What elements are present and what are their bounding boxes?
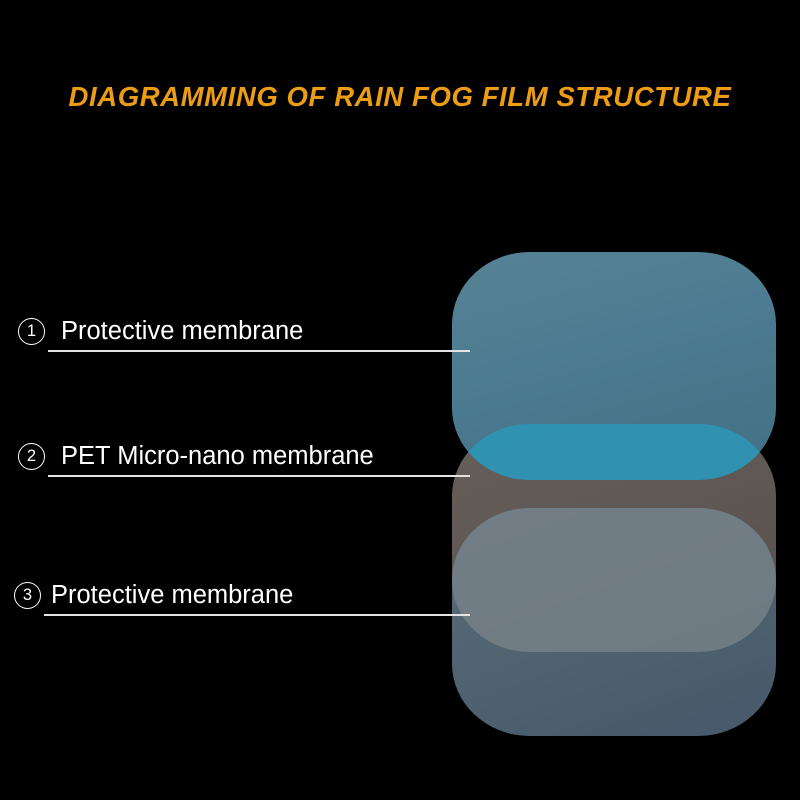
film-layer-3 <box>452 508 776 736</box>
callout-3-row: 3 Protective membrane <box>14 580 293 610</box>
callout-1-row: 1 Protective membrane <box>18 316 303 346</box>
callout-1-number-badge: 1 <box>18 318 45 345</box>
callout-2-leader-line <box>48 475 470 477</box>
callout-1: 1 Protective membrane <box>18 316 303 346</box>
diagram-canvas: DIAGRAMMING OF RAIN FOG FILM STRUCTURE 1… <box>0 0 800 800</box>
callout-3-number-badge: 3 <box>14 582 41 609</box>
film-layer-2 <box>452 424 776 652</box>
callout-2-label: PET Micro-nano membrane <box>61 441 374 471</box>
layer-overlap-2-3-shape <box>452 508 776 652</box>
layer-overlap-1-2 <box>452 424 776 652</box>
callout-2: 2 PET Micro-nano membrane <box>18 441 374 471</box>
callout-3-leader-line <box>44 614 470 616</box>
callout-3: 3 Protective membrane <box>14 580 293 610</box>
film-layer-1 <box>452 252 776 480</box>
layer-overlap-1-2-shape <box>452 424 776 480</box>
layer-overlap-2-3 <box>452 508 776 736</box>
film-layer-stack <box>0 0 800 800</box>
callout-2-row: 2 PET Micro-nano membrane <box>18 441 374 471</box>
callout-3-label: Protective membrane <box>51 580 293 610</box>
callout-1-label: Protective membrane <box>61 316 303 346</box>
callout-1-leader-line <box>48 350 470 352</box>
callout-2-number-badge: 2 <box>18 443 45 470</box>
page-title: DIAGRAMMING OF RAIN FOG FILM STRUCTURE <box>0 83 800 111</box>
